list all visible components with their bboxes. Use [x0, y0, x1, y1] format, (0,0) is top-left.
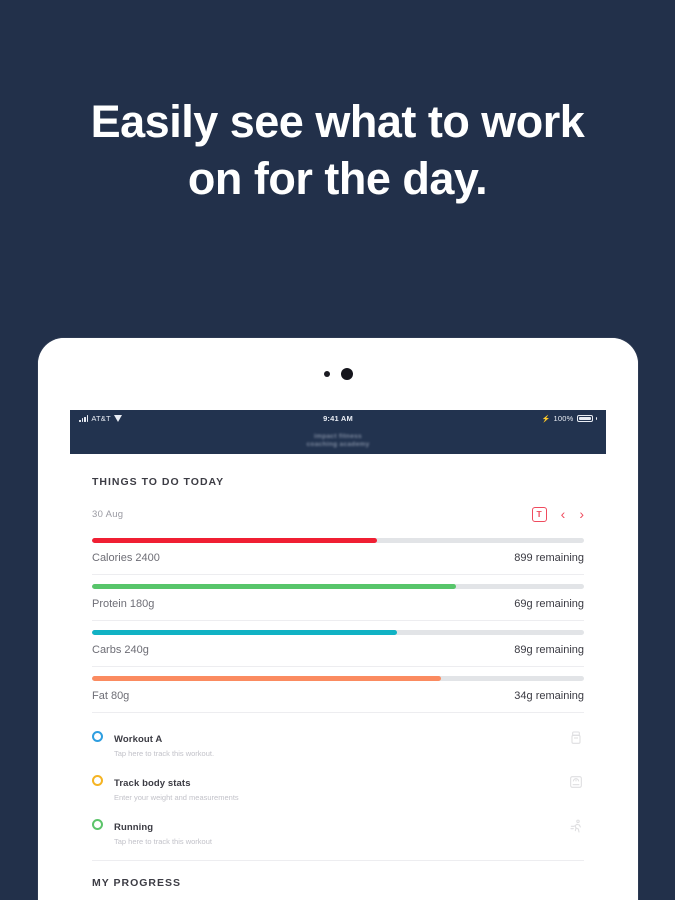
battery-tip-icon — [596, 417, 598, 420]
app-logo-line-1: impact fitness — [307, 433, 370, 441]
macro-remaining: 69g remaining — [514, 598, 584, 610]
signal-bars-icon — [79, 415, 88, 422]
date-navigation-row: 30 Aug T ‹ › — [92, 504, 584, 524]
task-checkbox-icon[interactable] — [92, 775, 103, 786]
list-item[interactable]: Track body stats Enter your weight and m… — [92, 766, 584, 810]
macro-progress-list: Calories 2400 899 remaining Protein 180g… — [92, 538, 584, 713]
battery-percent-label: 100% — [554, 414, 574, 423]
task-subtitle: Enter your weight and measurements — [114, 793, 557, 802]
front-camera-icon — [341, 368, 353, 380]
task-subtitle: Tap here to track this workout. — [114, 749, 557, 758]
task-title: Workout A — [114, 734, 162, 745]
macro-label: Protein 180g — [92, 598, 154, 610]
page-headline: Easily see what to work on for the day. — [0, 93, 675, 207]
task-checkbox-icon[interactable] — [92, 731, 103, 742]
chevron-right-icon[interactable]: › — [579, 507, 584, 521]
date-controls: T ‹ › — [532, 507, 584, 522]
status-bar: AT&T 9:41 AM ⚡ 100% — [70, 410, 606, 427]
task-checkbox-icon[interactable] — [92, 819, 103, 830]
macro-label: Fat 80g — [92, 690, 129, 702]
macro-label: Calories 2400 — [92, 552, 160, 564]
macro-row: Protein 180g 69g remaining — [92, 589, 584, 621]
app-header: impact fitness coaching academy — [70, 427, 606, 454]
macro-remaining: 899 remaining — [514, 552, 584, 564]
dumbbell-icon — [568, 730, 584, 746]
task-title: Track body stats — [114, 778, 191, 789]
task-subtitle: Tap here to track this workout — [114, 837, 557, 846]
battery-icon — [577, 415, 593, 422]
device-screen: AT&T 9:41 AM ⚡ 100% impact fitness coach… — [70, 410, 606, 900]
macro-row: Calories 2400 899 remaining — [92, 543, 584, 575]
task-text: Workout A Tap here to track this workout… — [114, 729, 557, 758]
macro-remaining: 89g remaining — [514, 644, 584, 656]
macro-item[interactable]: Carbs 240g 89g remaining — [92, 630, 584, 667]
macro-remaining: 34g remaining — [514, 690, 584, 702]
macro-item[interactable]: Protein 180g 69g remaining — [92, 584, 584, 621]
macro-label: Carbs 240g — [92, 644, 149, 656]
app-logo-line-2: coaching academy — [307, 441, 370, 449]
scale-icon — [568, 774, 584, 790]
page-title: THINGS TO DO TODAY — [92, 454, 584, 488]
headline-line-2: on for the day. — [0, 150, 675, 207]
carrier-label: AT&T — [91, 414, 110, 423]
app-logo: impact fitness coaching academy — [307, 433, 370, 448]
task-title: Running — [114, 822, 153, 833]
headline-line-1: Easily see what to work — [91, 96, 585, 147]
list-item[interactable]: Running Tap here to track this workout — [92, 810, 584, 854]
macro-item[interactable]: Calories 2400 899 remaining — [92, 538, 584, 575]
chevron-left-icon[interactable]: ‹ — [561, 507, 566, 521]
app-content: THINGS TO DO TODAY 30 Aug T ‹ › — [70, 454, 606, 900]
status-bar-time: 9:41 AM — [323, 414, 353, 423]
task-text: Running Tap here to track this workout — [114, 817, 557, 846]
ambient-sensor-icon — [324, 371, 330, 377]
bolt-icon: ⚡ — [542, 415, 551, 423]
status-bar-right: ⚡ 100% — [353, 414, 597, 423]
task-list: Workout A Tap here to track this workout… — [92, 722, 584, 854]
device-top-bezel — [38, 338, 638, 410]
my-progress-section: MY PROGRESS — [92, 860, 584, 900]
promo-screenshot: Easily see what to work on for the day. … — [0, 0, 675, 900]
today-button[interactable]: T — [532, 507, 547, 522]
tablet-device-mockup: AT&T 9:41 AM ⚡ 100% impact fitness coach… — [38, 338, 638, 900]
task-text: Track body stats Enter your weight and m… — [114, 773, 557, 802]
wifi-icon — [114, 415, 123, 422]
status-bar-left: AT&T — [79, 414, 323, 423]
current-date-label: 30 Aug — [92, 509, 123, 520]
list-item[interactable]: Workout A Tap here to track this workout… — [92, 722, 584, 766]
macro-row: Carbs 240g 89g remaining — [92, 635, 584, 667]
macro-item[interactable]: Fat 80g 34g remaining — [92, 676, 584, 713]
runner-icon — [568, 818, 584, 834]
macro-row: Fat 80g 34g remaining — [92, 681, 584, 713]
my-progress-title: MY PROGRESS — [92, 861, 584, 900]
